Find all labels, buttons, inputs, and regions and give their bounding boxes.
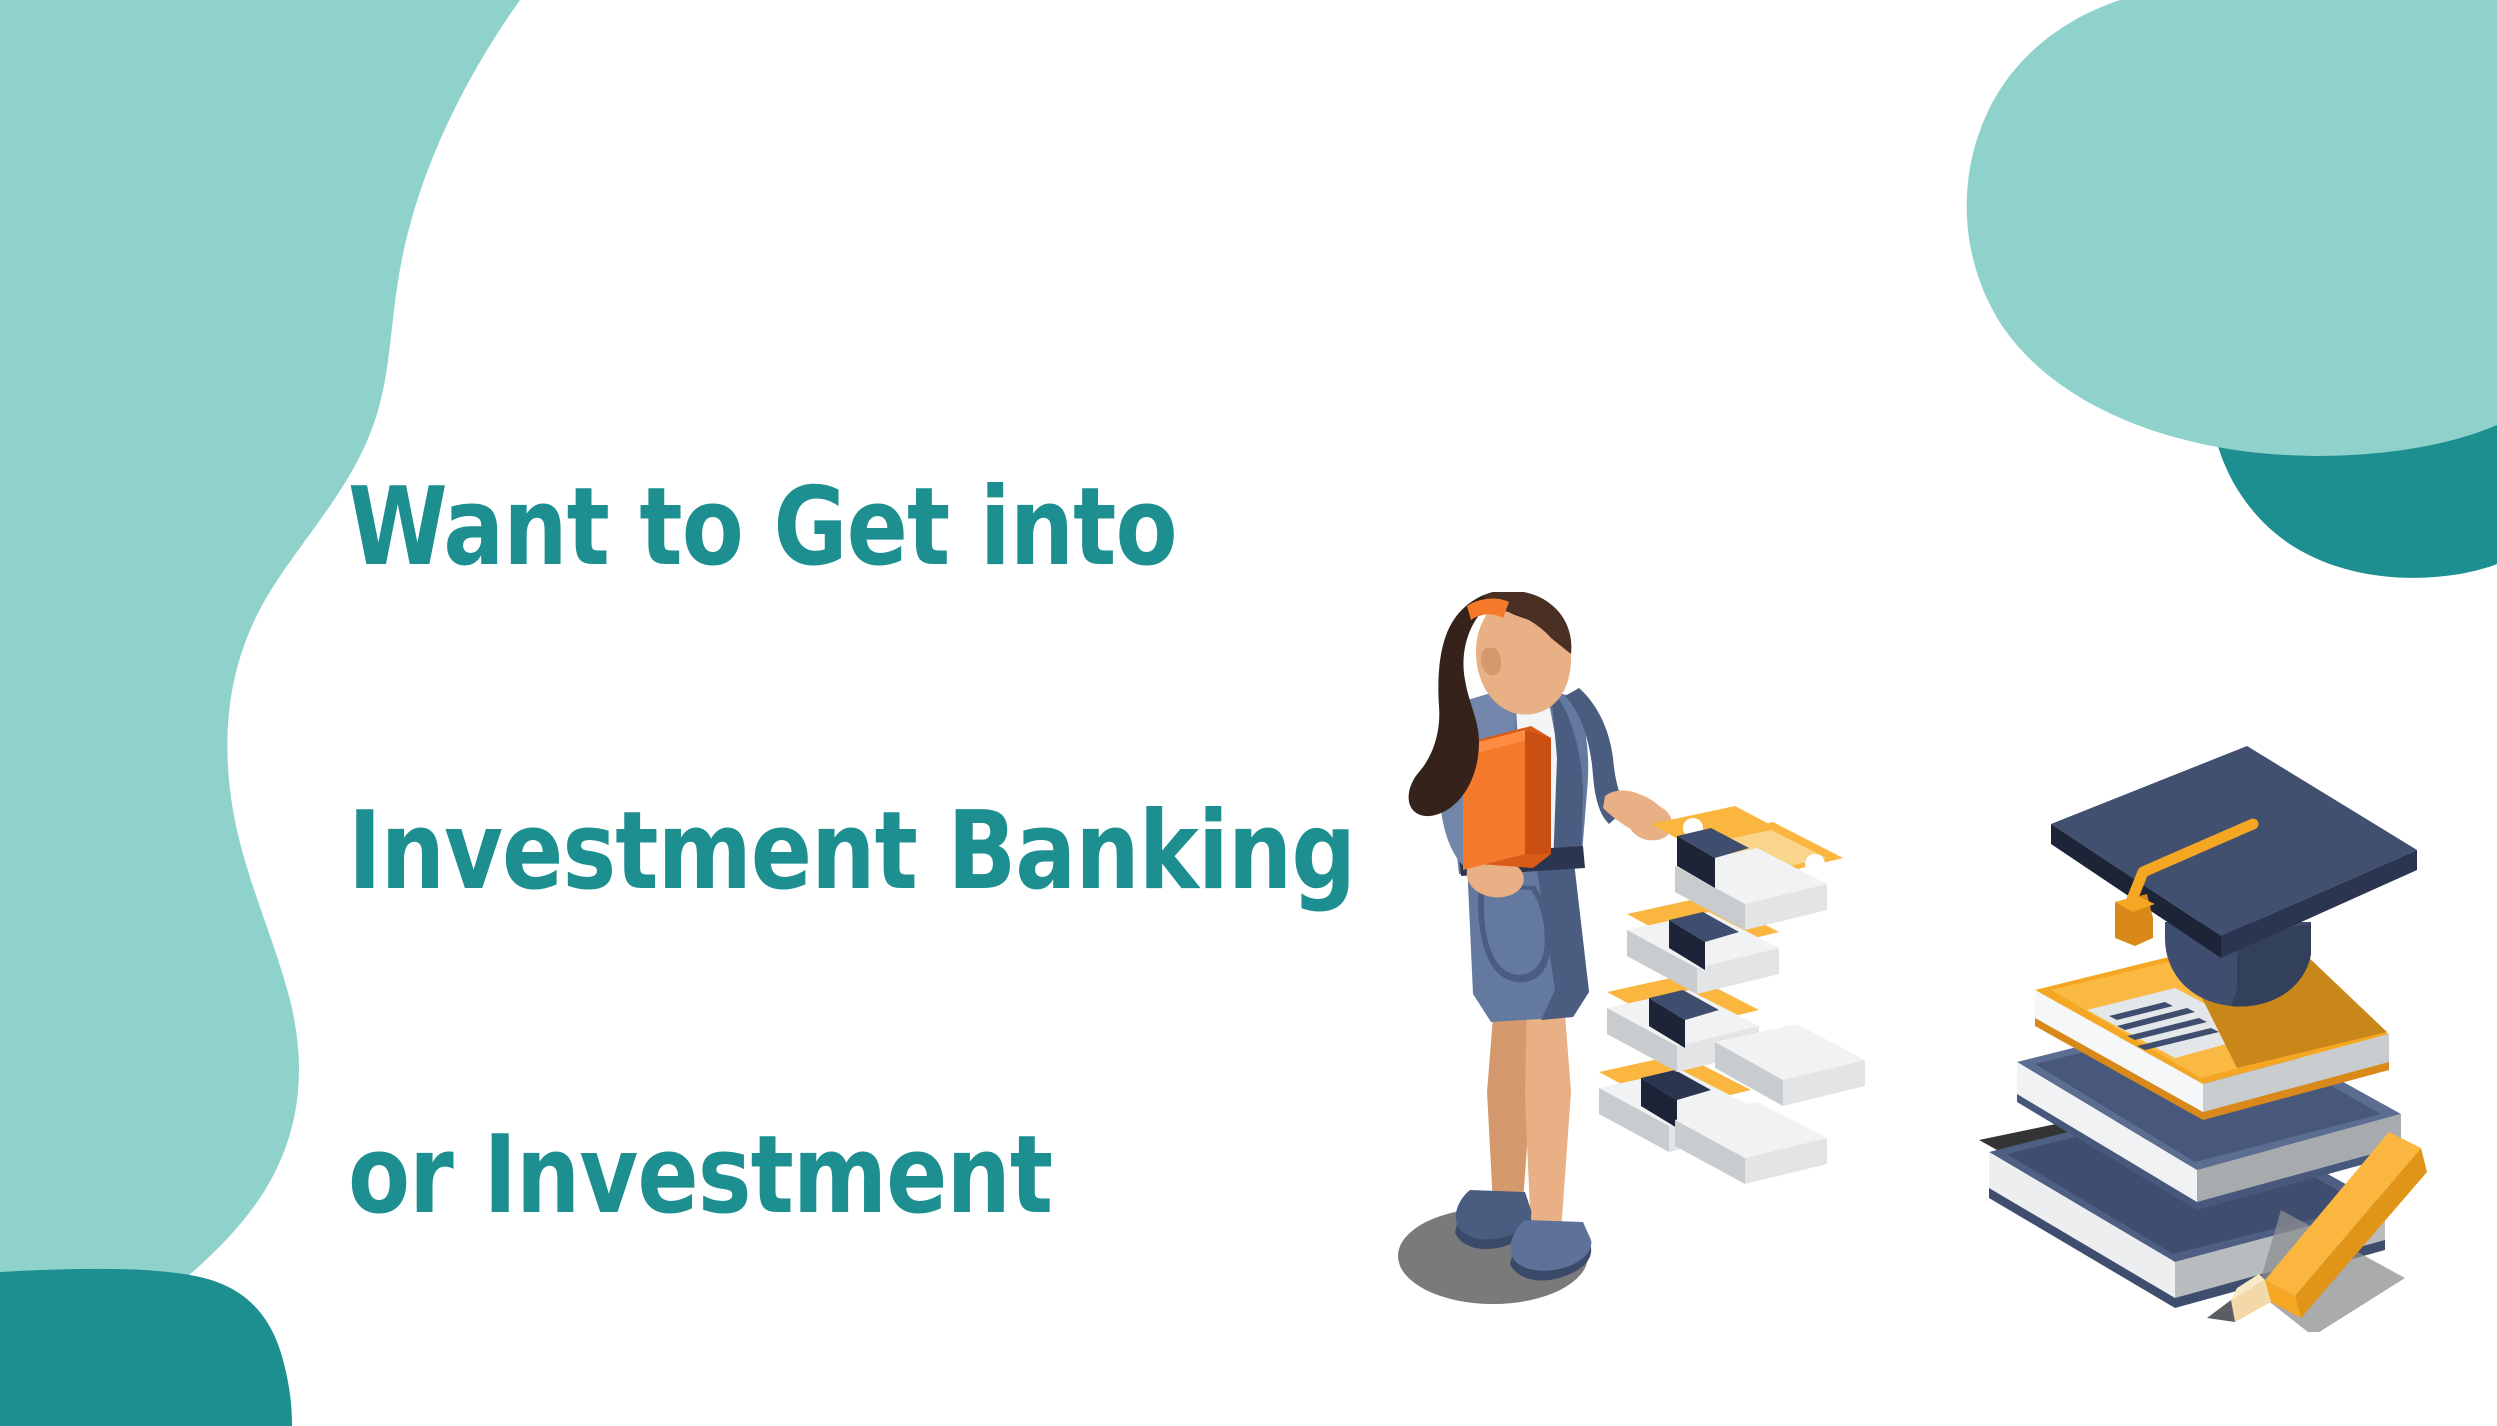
- graduation-cap: [2003, 746, 2417, 1006]
- bill-circle-right: [1805, 854, 1825, 874]
- headline-line-3: or Investment: [348, 1122, 1585, 1230]
- pencil-lead: [2207, 1300, 2235, 1322]
- promo-banner: Want to Get into Investment Banking or I…: [0, 0, 2497, 1426]
- page-title: Want to Get into Investment Banking or I…: [348, 258, 1585, 1426]
- headline-line-1: Want to Get into: [348, 474, 1585, 582]
- headline-line-2: Investment Banking: [348, 798, 1585, 906]
- headline-block: Want to Get into Investment Banking or I…: [348, 258, 1678, 1426]
